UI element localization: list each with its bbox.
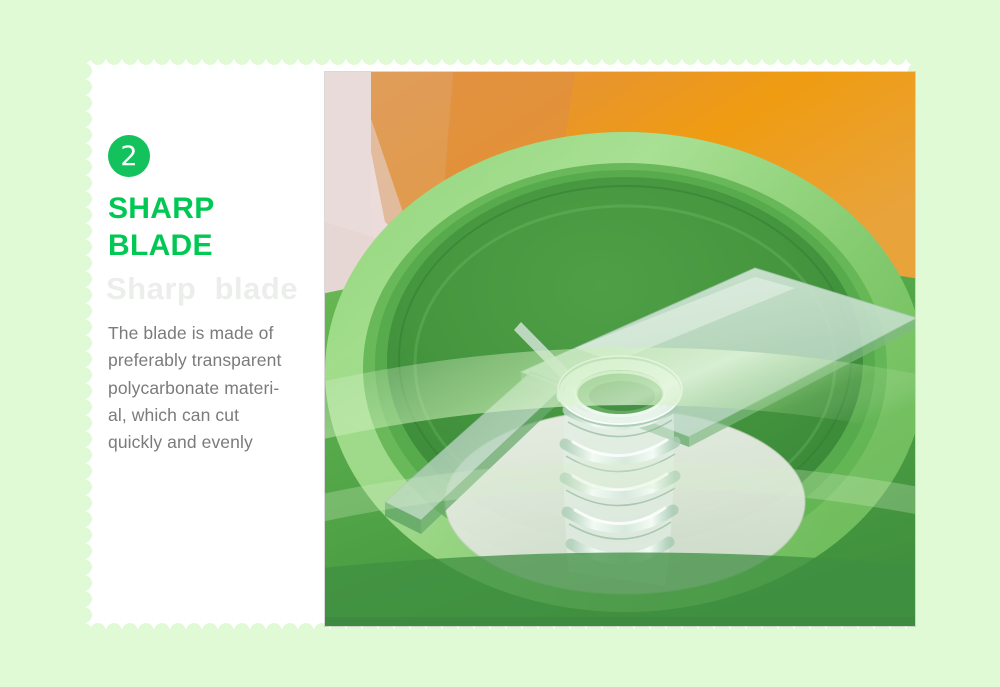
- product-photo-illustration: [325, 72, 915, 626]
- card-scalloped-edge-left: [76, 47, 92, 641]
- card-scalloped-edge-top: [74, 49, 926, 65]
- product-photo: [325, 72, 915, 626]
- step-number-badge: 2: [108, 135, 150, 177]
- content-card: 2 SHARP BLADE Sharp blade The blade is m…: [84, 57, 916, 631]
- description-text: The blade is made of preferably transpar…: [108, 320, 336, 456]
- watermark-text: Sharp blade: [106, 272, 336, 306]
- page-background: 2 SHARP BLADE Sharp blade The blade is m…: [0, 0, 1000, 687]
- text-column: 2 SHARP BLADE Sharp blade The blade is m…: [106, 73, 336, 613]
- page-title: SHARP BLADE: [108, 191, 336, 264]
